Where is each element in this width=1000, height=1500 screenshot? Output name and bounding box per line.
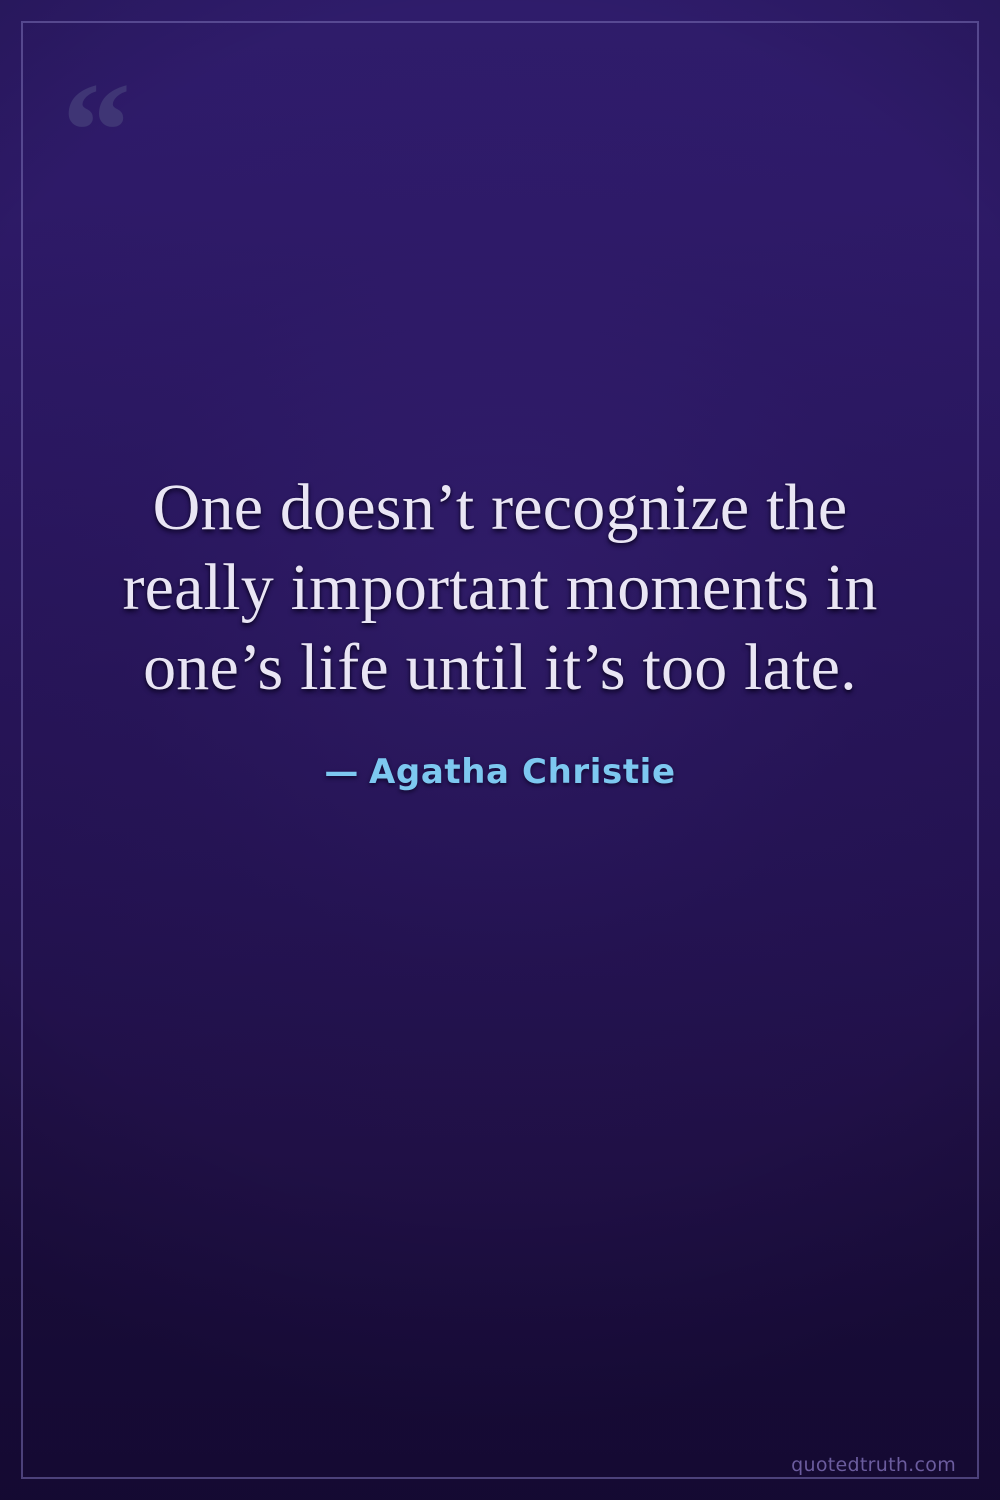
quote-attribution: —Agatha Christie <box>324 752 675 792</box>
attribution-dash: — <box>324 752 359 792</box>
quote-text: One doesn’t recognize the really importa… <box>80 468 920 708</box>
attribution-author: Agatha Christie <box>369 752 676 792</box>
quotation-mark-icon: “ <box>62 62 129 200</box>
quote-card: “ One doesn’t recognize the really impor… <box>0 0 1000 1500</box>
quote-content: One doesn’t recognize the really importa… <box>0 468 1000 792</box>
site-watermark: quotedtruth.com <box>791 1454 956 1476</box>
